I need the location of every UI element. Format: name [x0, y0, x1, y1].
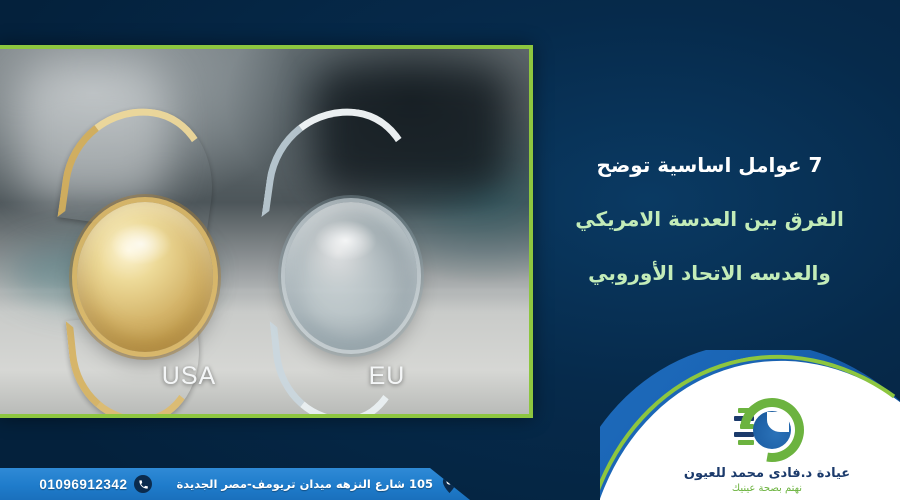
- eye-iris: [753, 411, 791, 449]
- photo-frame: USA EU: [0, 45, 533, 418]
- address-text: 105 شارع النزهه ميدان تريومف-مصر الجديدة: [176, 477, 433, 491]
- lens-label-eu: EU: [287, 362, 487, 391]
- logo-name-text: عيادة د.فادى محمد للعيون: [642, 466, 892, 482]
- headline: 7 عوامل اساسية توضح الفرق بين العدسة الا…: [537, 138, 882, 300]
- lens-optic: [77, 202, 213, 352]
- phone-item[interactable]: 01096912342: [39, 475, 152, 493]
- clear-iol-lens: EU: [259, 104, 459, 404]
- headline-line-3: والعدسه الاتحاد الأوروبي: [537, 246, 882, 300]
- headline-line-2: الفرق بين العدسة الامريكي: [537, 192, 882, 246]
- clinic-logo: عيادة د.فادى محمد للعيون نهتم بصحة عينيك: [600, 350, 900, 500]
- golden-iol-lens: USA: [55, 104, 255, 404]
- logo-content: عيادة د.فادى محمد للعيون نهتم بصحة عينيك: [642, 398, 892, 496]
- contact-bar: 105 شارع النزهه ميدان تريومف-مصر الجديدة…: [0, 468, 470, 500]
- poster-canvas: USA EU 7 عوامل اساسية توضح الفرق بين الع…: [0, 0, 900, 500]
- address-item: 105 شارع النزهه ميدان تريومف-مصر الجديدة: [176, 475, 458, 493]
- lens-optic: [285, 202, 417, 350]
- phone-icon: [134, 475, 152, 493]
- phone-number-text: 01096912342: [39, 477, 127, 492]
- location-pin-icon: [440, 475, 458, 493]
- headline-line-1: 7 عوامل اساسية توضح: [537, 138, 882, 192]
- eye-icon: [730, 398, 804, 464]
- clinic-photo-background: USA EU: [0, 49, 529, 414]
- logo-tagline-text: نهتم بصحة عينيك: [642, 482, 892, 496]
